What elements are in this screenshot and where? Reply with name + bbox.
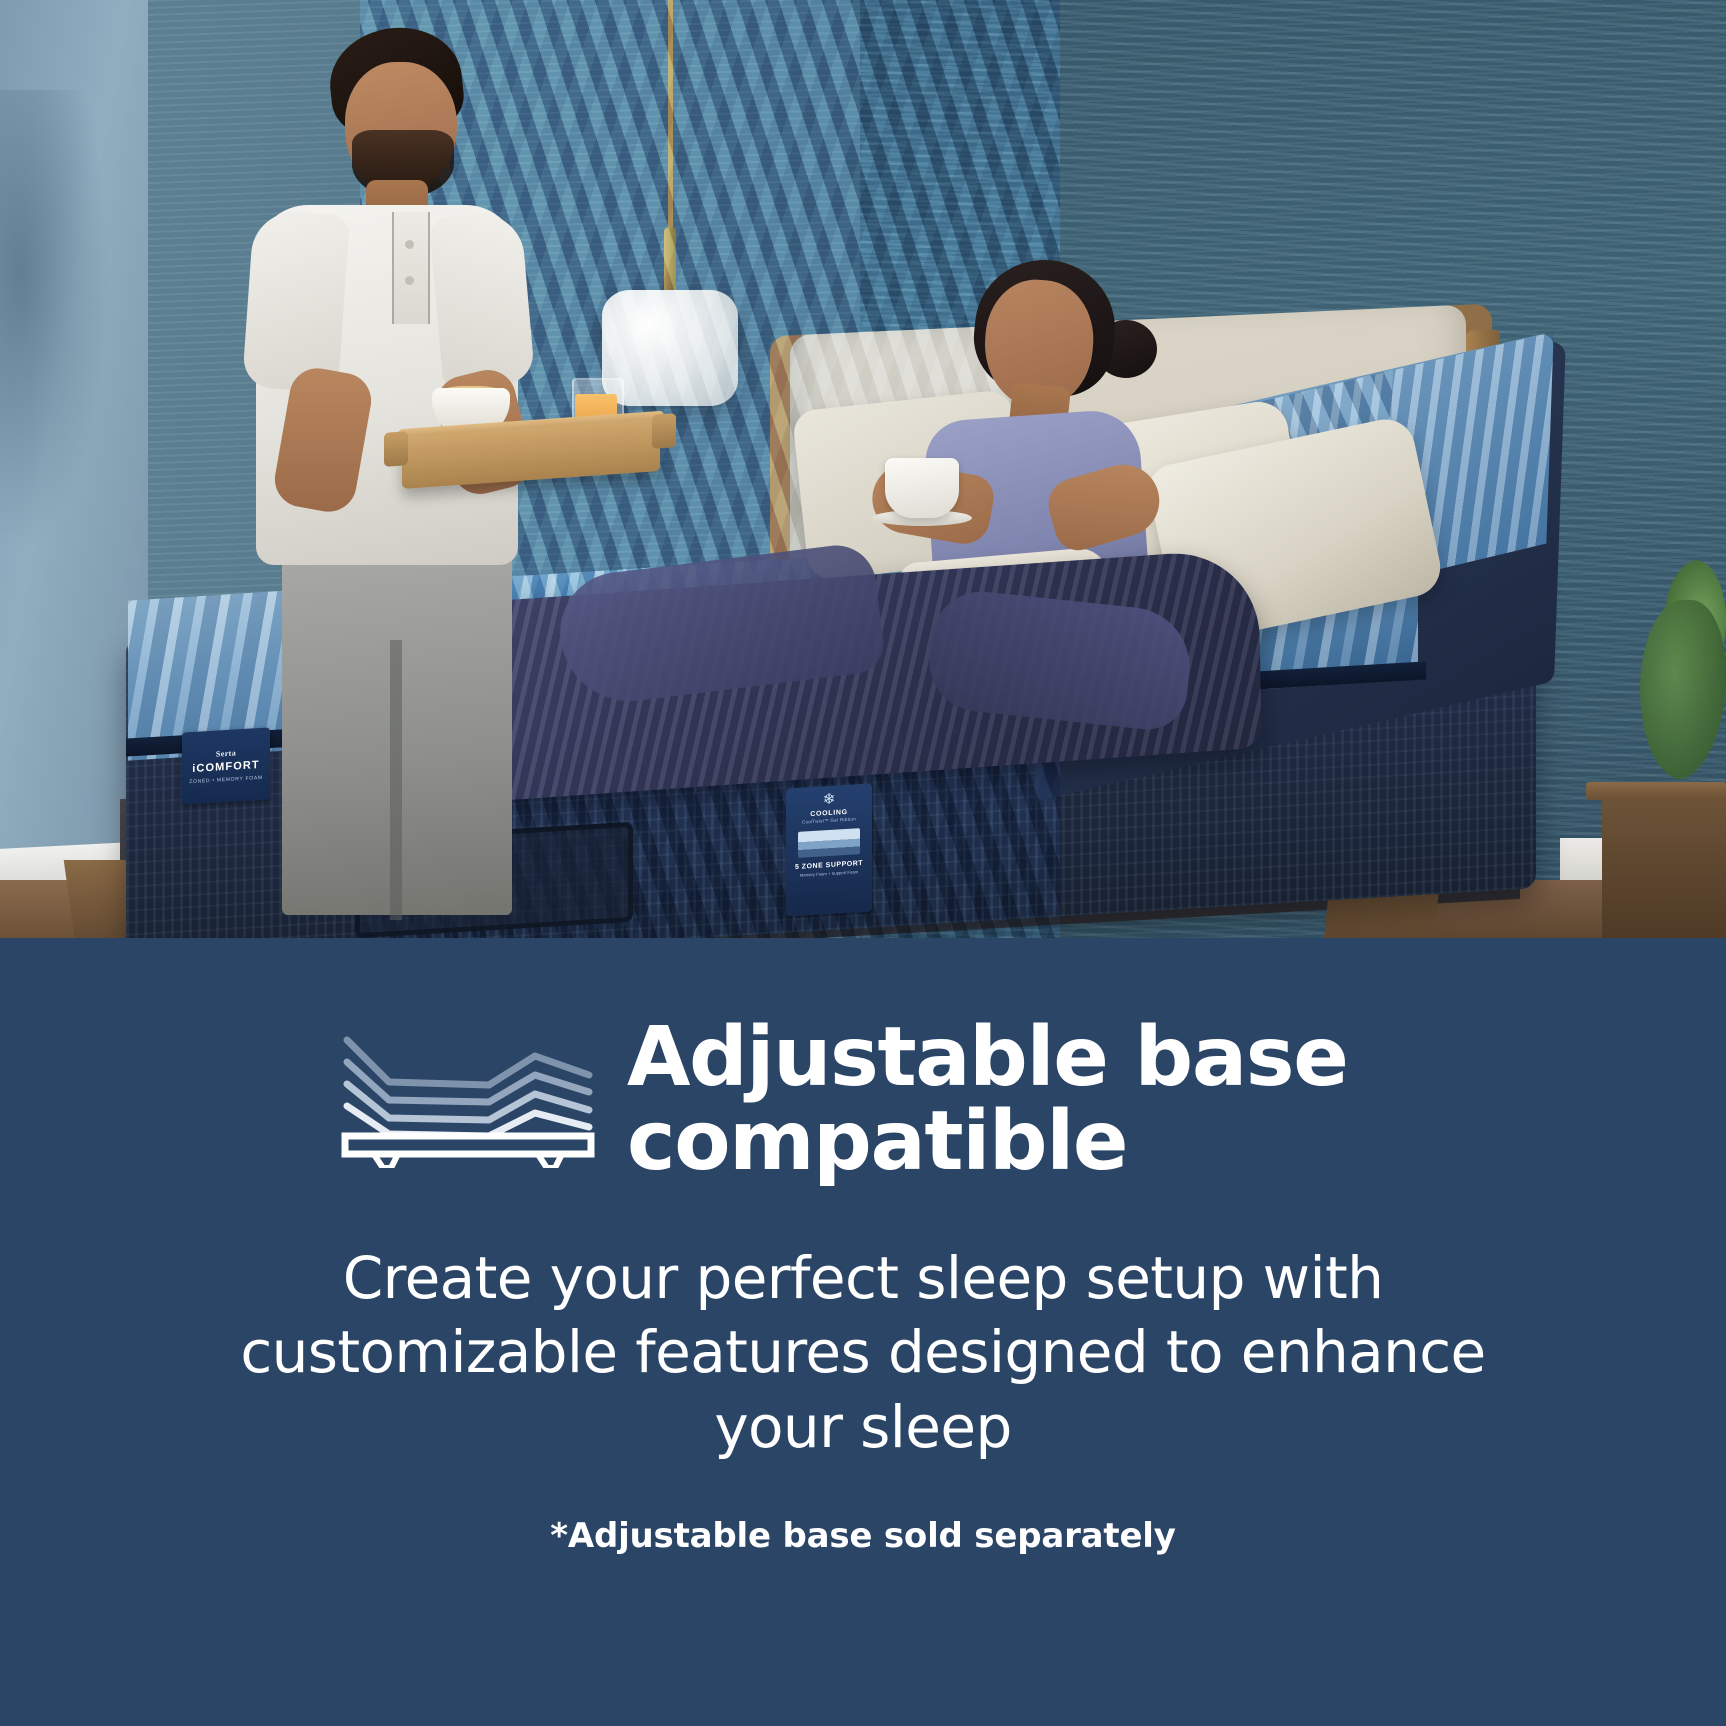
nightstand-top — [1586, 782, 1726, 800]
plant-leaves — [1640, 600, 1726, 780]
nightstand — [1602, 790, 1726, 938]
man-shirt-button-bottom — [405, 276, 414, 285]
cooling-feature-tag: ❄ COOLING CoolTwist™ Gel Ribbon 5 ZONE S… — [786, 783, 872, 916]
coffee-mug — [885, 458, 959, 518]
message-panel: Adjustable base compatible Create your p… — [0, 938, 1726, 1726]
headline-row: Adjustable base compatible — [0, 1016, 1726, 1183]
man-pants-seam — [390, 640, 402, 920]
man-right-sleeve — [429, 210, 536, 389]
promo-tile: Serta iCOMFORT ZONED • MEMORY FOAM ❄ COO… — [0, 0, 1726, 1726]
serta-wordmark: Serta — [216, 748, 236, 758]
panel-footnote: *Adjustable base sold separately — [550, 1516, 1175, 1556]
lifestyle-photo: Serta iCOMFORT ZONED • MEMORY FOAM ❄ COO… — [0, 0, 1726, 938]
man-shirt-button-top — [405, 240, 414, 249]
adjustable-base-icon — [339, 1032, 597, 1168]
serta-tag-subtitle: ZONED • MEMORY FOAM — [189, 775, 262, 785]
icomfort-wordmark: iCOMFORT — [192, 759, 259, 775]
tray-handle-left — [384, 431, 408, 467]
wall-shadow — [0, 90, 110, 550]
serta-brand-tag: Serta iCOMFORT ZONED • MEMORY FOAM — [182, 727, 270, 804]
man-left-sleeve — [242, 209, 350, 393]
tray-handle-right — [652, 413, 676, 449]
snowflake-icon: ❄ — [823, 792, 836, 808]
page-title: Adjustable base compatible — [627, 1016, 1387, 1183]
zone-support-diagram — [798, 828, 860, 858]
zone-support-subtitle: Memory Foam + Support Foam — [800, 869, 858, 877]
panel-description: Create your perfect sleep setup with cus… — [213, 1241, 1513, 1464]
man-shirt-placket — [392, 212, 430, 324]
